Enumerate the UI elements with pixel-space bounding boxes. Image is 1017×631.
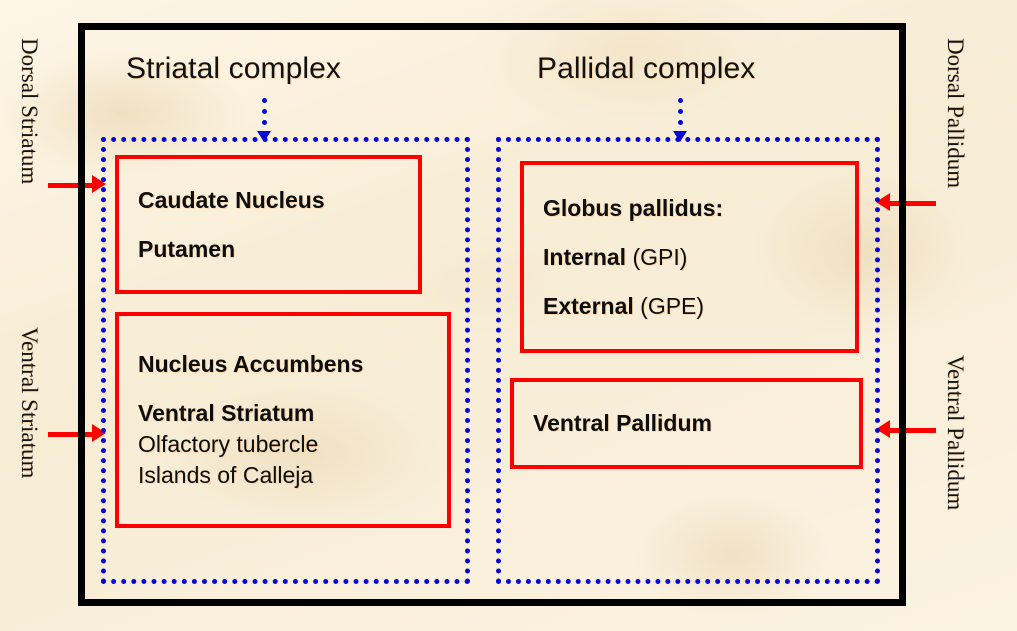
side-label-ventral-pallidum: Ventral Pallidum [942, 355, 968, 510]
box-ventral-striatum-line-3: Olfactory tubercle [119, 431, 447, 458]
box-dorsal-striatum: Caudate Nucleus Putamen [115, 155, 422, 294]
gpe-bold: External [543, 293, 634, 319]
title-pallidal-complex: Pallidal complex [537, 52, 755, 86]
box-dorsal-striatum-line-2: Putamen [119, 236, 418, 263]
box-globus-pallidus-line-1: Globus pallidus: [524, 195, 855, 222]
gpi-abbrev: (GPI) [626, 244, 687, 270]
side-label-ventral-striatum: Ventral Striatum [16, 327, 42, 478]
box-ventral-pallidum-line-1: Ventral Pallidum [514, 410, 859, 437]
box-ventral-striatum: Nucleus Accumbens Ventral Striatum Olfac… [115, 312, 451, 528]
diagram-canvas: Dorsal Striatum Ventral Striatum Dorsal … [0, 0, 1017, 631]
title-striatal-complex: Striatal complex [126, 52, 341, 86]
box-ventral-striatum-line-4: Islands of Calleja [119, 462, 447, 489]
box-ventral-striatum-line-2: Ventral Striatum [119, 400, 447, 427]
side-label-dorsal-striatum: Dorsal Striatum [16, 38, 42, 184]
box-globus-pallidus: Globus pallidus: Internal (GPI) External… [520, 161, 859, 353]
box-dorsal-striatum-line-1: Caudate Nucleus [119, 187, 418, 214]
box-globus-pallidus-line-3: External (GPE) [524, 293, 855, 320]
gpi-bold: Internal [543, 244, 626, 270]
box-globus-pallidus-line-2: Internal (GPI) [524, 244, 855, 271]
box-ventral-striatum-line-1: Nucleus Accumbens [119, 351, 447, 378]
gpe-abbrev: (GPE) [634, 293, 704, 319]
side-label-dorsal-pallidum: Dorsal Pallidum [942, 38, 968, 188]
box-ventral-pallidum: Ventral Pallidum [510, 378, 863, 469]
